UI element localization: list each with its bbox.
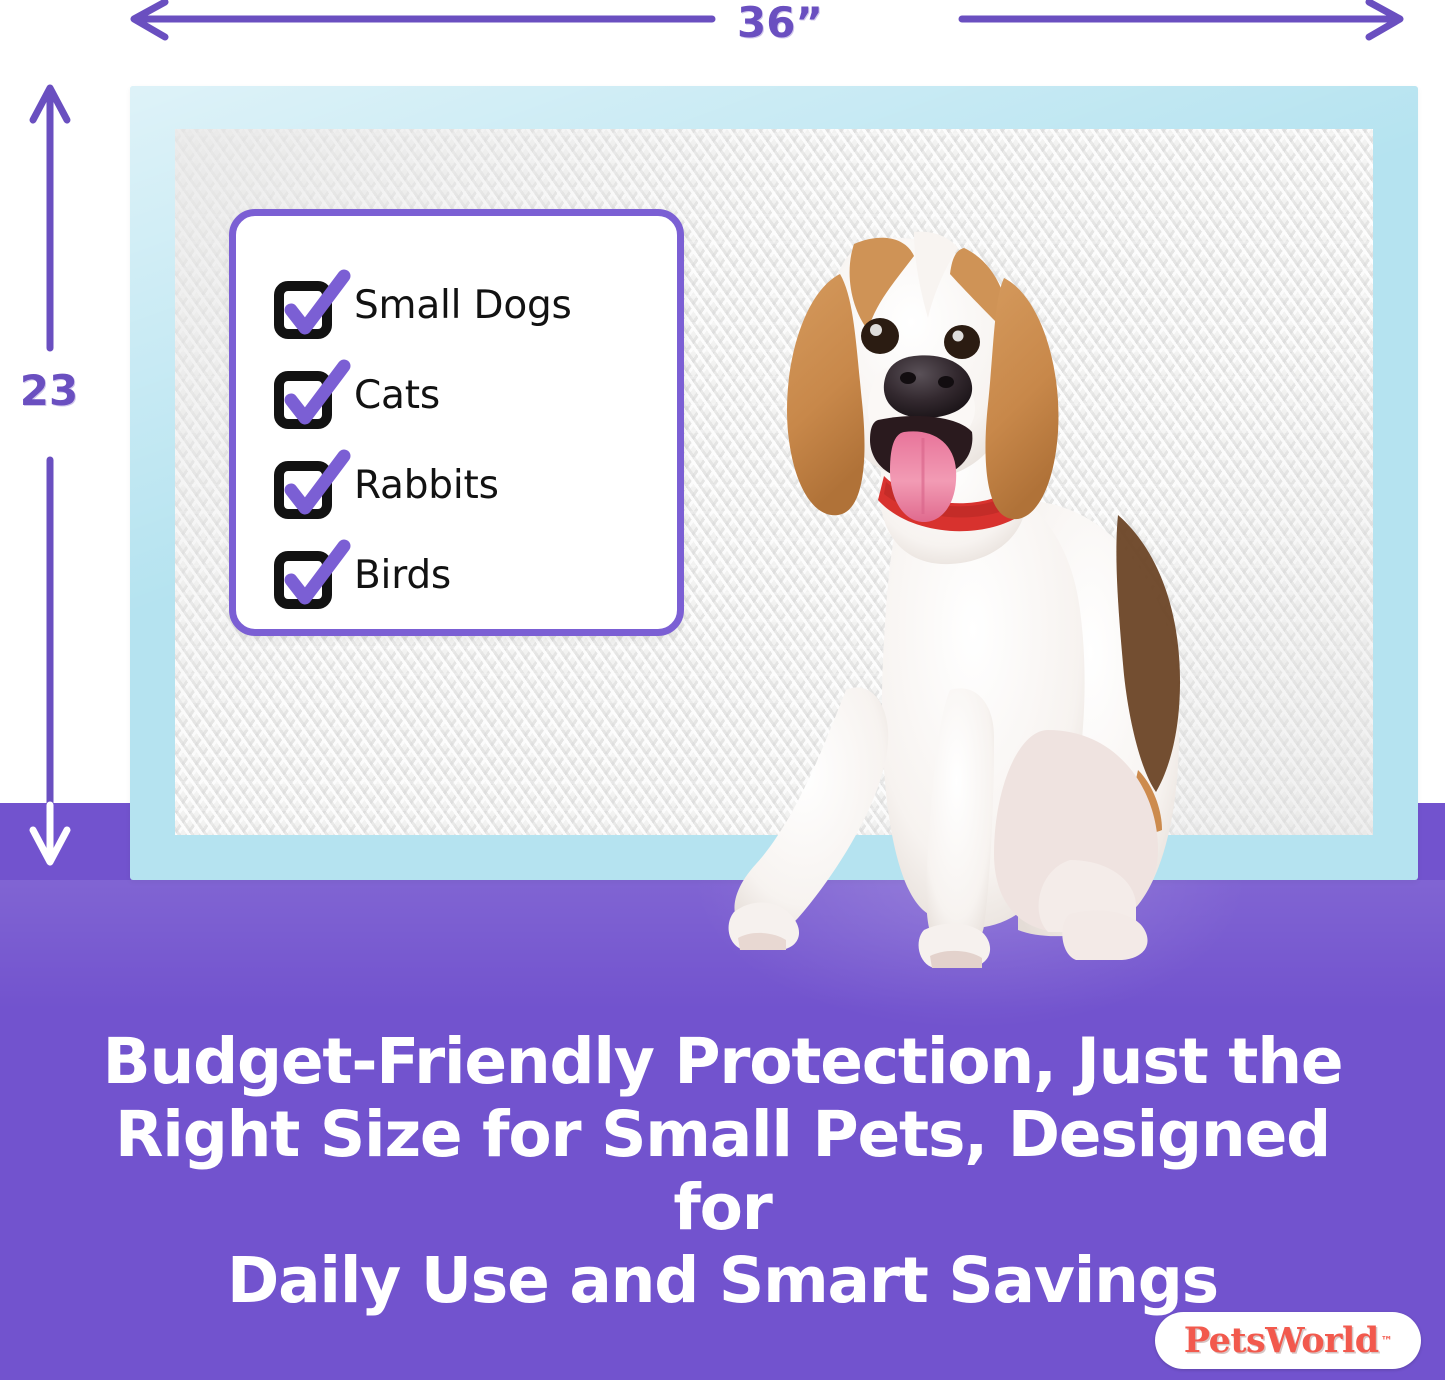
headline-line-1: Budget-Friendly Protection, Just the [60, 1025, 1385, 1098]
checklist-item[interactable]: Small Dogs [274, 260, 667, 350]
checklist-item[interactable]: Birds [274, 530, 667, 620]
checklist-item[interactable]: Rabbits [274, 440, 667, 530]
beagle-dog-photo [718, 170, 1258, 970]
trademark-symbol: ™ [1381, 1334, 1393, 1348]
brand-logo: PetsWorld™ [1155, 1312, 1421, 1369]
checklist-item-label: Small Dogs [354, 283, 572, 328]
checklist-item-label: Rabbits [354, 463, 499, 508]
height-dimension-label: 23 [6, 366, 92, 415]
brand-logo-text: PetsWorld™ [1155, 1312, 1421, 1369]
checklist-item-label: Birds [354, 553, 451, 598]
brand-name: PetsWorld [1184, 1320, 1379, 1361]
checklist-rows: Small Dogs Cats Rabbit [274, 260, 667, 620]
headline-line-3: Daily Use and Smart Savings [60, 1244, 1385, 1317]
checked-checkbox-icon[interactable] [274, 454, 346, 516]
compatible-pets-checklist: Small Dogs Cats Rabbit [229, 209, 684, 636]
promo-headline: Budget-Friendly Protection, Just the Rig… [60, 1025, 1385, 1317]
checked-checkbox-icon[interactable] [274, 544, 346, 606]
product-infographic: Small Dogs Cats Rabbit [0, 0, 1445, 1380]
height-dimension-arrow [0, 60, 100, 890]
checklist-item[interactable]: Cats [274, 350, 667, 440]
checked-checkbox-icon[interactable] [274, 274, 346, 336]
width-dimension-label: 36” [700, 0, 860, 47]
checklist-item-label: Cats [354, 373, 440, 418]
headline-line-2: Right Size for Small Pets, Designed for [60, 1098, 1385, 1244]
checked-checkbox-icon[interactable] [274, 364, 346, 426]
